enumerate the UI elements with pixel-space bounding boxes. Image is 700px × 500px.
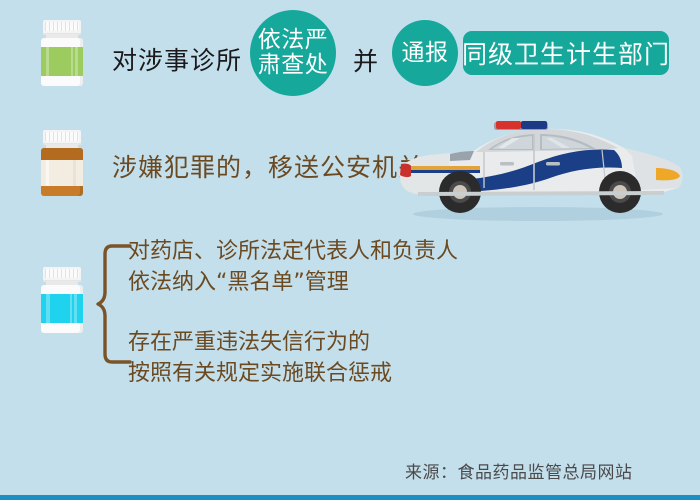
bottle-body [41,285,83,333]
joint-punishment-line-2: 按照有关规定实施联合惩戒 [128,358,392,389]
bottle-cap [43,130,81,145]
badge-circle-strict-investigation: 依法严 肃查处 [250,10,336,96]
joint-punishment-line-1: 存在严重违法失信行为的 [128,327,392,358]
police-car-illustration [388,108,688,228]
bottle-label [41,294,83,323]
row2-text: 涉嫌犯罪的，移送公安机关 [112,148,424,184]
badge-health-department: 同级卫生计生部门 [463,31,669,75]
infographic-poster: 对涉事诊所 依法严 肃查处 并 通报 同级卫生计生部门 涉嫌犯罪的，移送公安机关 [0,0,700,500]
row1-conjunction: 并 [353,42,378,78]
blacklist-line-1: 对药店、诊所法定代表人和负责人 [128,236,458,267]
blacklist-text-block: 对药店、诊所法定代表人和负责人 依法纳入“黑名单”管理 [128,236,458,298]
badge-circle-line-2: 肃查处 [258,53,329,78]
amber-pill-bottle-icon [40,130,84,196]
bottle-label [41,160,83,186]
cyan-pill-bottle-icon [40,267,84,333]
bottle-cap [43,20,81,35]
source-attribution: 来源：食品药品监管总局网站 [405,458,633,483]
bottle-body [41,38,83,86]
blacklist-line-2: 依法纳入“黑名单”管理 [128,267,458,298]
row1-lead-text: 对涉事诊所 [112,41,242,77]
green-pill-bottle-icon [40,20,84,86]
joint-punishment-text-block: 存在严重违法失信行为的 按照有关规定实施联合惩戒 [128,327,392,389]
badge-circle-notify: 通报 [392,20,458,86]
curly-brace [96,240,132,368]
bottle-cap [43,267,81,282]
bottom-accent-strip [0,495,700,500]
bottle-body [41,148,83,196]
bottle-label [41,47,83,76]
badge-circle-line-1: 依法严 [258,28,329,53]
